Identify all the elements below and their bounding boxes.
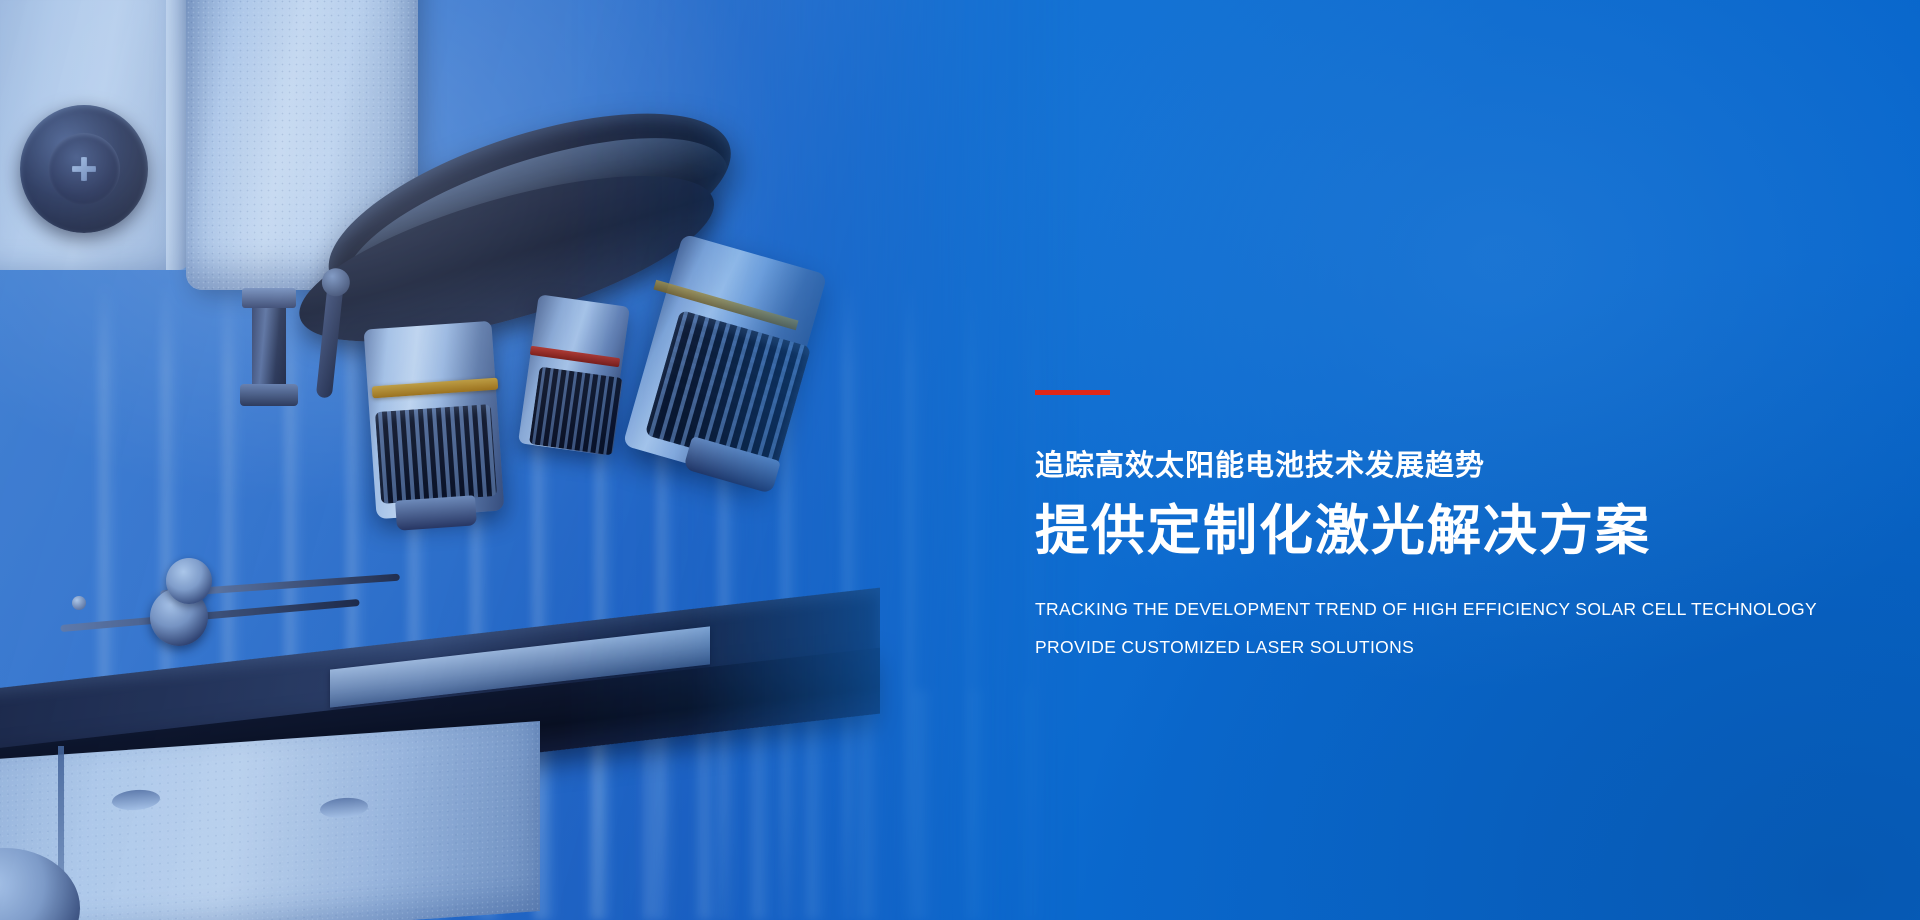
accent-bar [1035,390,1110,395]
hero-subtitle-en-line2: PROVIDE CUSTOMIZED LASER SOLUTIONS [1035,639,1865,657]
hero-headline-cn: 提供定制化激光解决方案 [1035,498,1865,566]
hero-banner: 追踪高效太阳能电池技术发展趋势 提供定制化激光解决方案 TRACKING THE… [0,0,1920,920]
hero-text-block: 追踪高效太阳能电池技术发展趋势 提供定制化激光解决方案 TRACKING THE… [1035,390,1865,656]
photo-highlight-glow [0,0,1080,920]
hero-subtitle-cn: 追踪高效太阳能电池技术发展趋势 [1035,449,1865,484]
hero-subtitle-en-line1: TRACKING THE DEVELOPMENT TREND OF HIGH E… [1035,601,1865,619]
microscope-photo [0,0,1080,920]
